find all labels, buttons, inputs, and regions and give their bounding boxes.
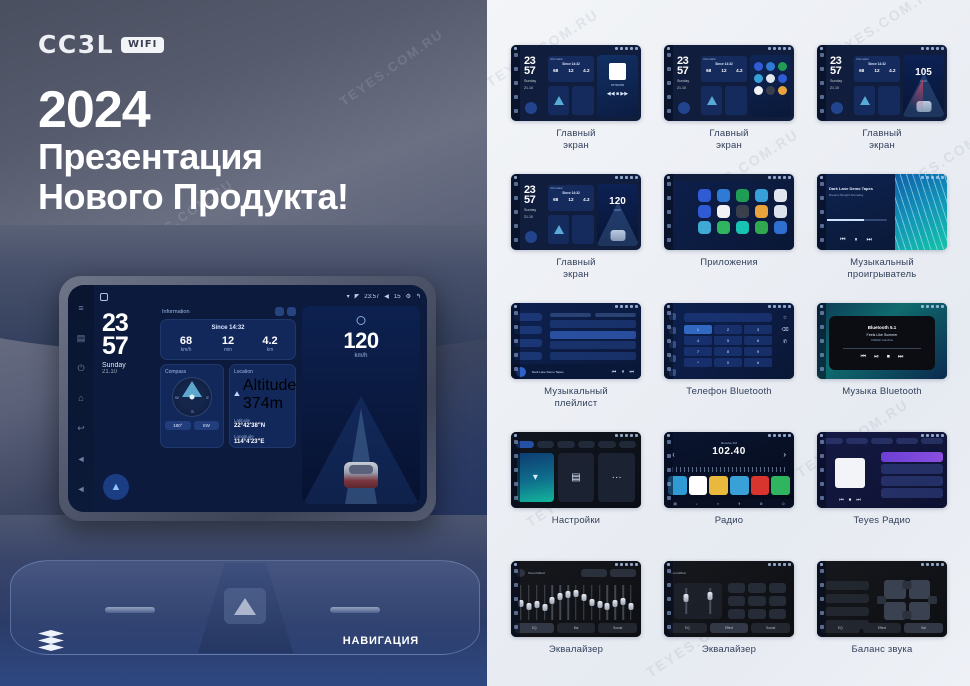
- thumb-music-player[interactable]: Dark Lane Demo Tapes Dreams Bought Somed…: [817, 174, 947, 294]
- next-icon[interactable]: ⏭: [867, 237, 872, 244]
- navigation-button[interactable]: [831, 102, 843, 114]
- thumb-bluetooth-phone[interactable]: 123456789*0# ☆ ⌫ ✆: [664, 303, 794, 423]
- app-item[interactable]: [716, 205, 731, 218]
- side-icon: [514, 311, 518, 315]
- thumbnail-image[interactable]: EQ Effect Bal: [817, 561, 947, 637]
- eq-band-slider[interactable]: [565, 585, 571, 620]
- eq-band-slider[interactable]: [589, 585, 595, 620]
- radio-preset[interactable]: [751, 476, 770, 495]
- latitude-value: 22°42'38"N: [234, 423, 291, 429]
- app-icon[interactable]: [755, 221, 768, 234]
- thumb-home-screen-media[interactable]: 23 57 Sunday 21.10 Information Since 14:…: [511, 45, 641, 165]
- thumb-status-bar: [511, 303, 641, 310]
- app-icon[interactable]: [755, 205, 768, 218]
- thumbnail-caption: Главный экран: [511, 128, 641, 151]
- thumbnail-image[interactable]: [664, 174, 794, 250]
- playlist-row[interactable]: [550, 341, 636, 349]
- dial-key[interactable]: 2: [714, 325, 742, 334]
- dial-key[interactable]: 1: [684, 325, 712, 334]
- music-player: Dark Lane Demo Tapes Dreams Bought Somed…: [817, 174, 947, 250]
- preset-button[interactable]: [769, 583, 786, 593]
- player-controls[interactable]: ⏮ ⏹ ⏭: [823, 497, 877, 503]
- stat-value: 12: [563, 68, 578, 73]
- trip-since: Since 14:32: [854, 62, 900, 66]
- app-item[interactable]: [697, 205, 712, 218]
- station-row[interactable]: [881, 464, 943, 474]
- thumb-teyes-radio[interactable]: ⏮ ⏹ ⏭: [817, 432, 947, 552]
- radio-toolbar[interactable]: ▤ ⌕ ≡ ⇞ ⚙ ⏻: [664, 499, 794, 508]
- dial-key[interactable]: 7: [684, 347, 712, 356]
- station-row[interactable]: [881, 476, 943, 486]
- settings-card-more[interactable]: ···: [598, 453, 635, 502]
- home-icon: [514, 563, 517, 566]
- navigation-button[interactable]: [678, 102, 690, 114]
- balance-right-button[interactable]: [928, 596, 937, 604]
- clock-minutes: 57: [830, 67, 842, 77]
- thumbnail-image[interactable]: ⏮ ⏹ ⏭: [817, 432, 947, 508]
- stat-value: 4.2: [579, 197, 594, 202]
- radio-preset[interactable]: [689, 476, 708, 495]
- station-row[interactable]: [881, 488, 943, 498]
- balance-left-button[interactable]: [877, 596, 886, 604]
- home-icon: [820, 434, 823, 437]
- app-item[interactable]: [716, 221, 731, 234]
- thumb-home-screen-road[interactable]: 23 57 Sunday 21.10 Information Since 14:…: [817, 45, 947, 165]
- presentation-page: TEYES.COM.RU TEYES.COM.RU TEYES.COM.RU T…: [0, 0, 970, 686]
- app-icon[interactable]: [778, 62, 787, 71]
- app-item[interactable]: [773, 205, 788, 218]
- thumbnail-image[interactable]: Sound Effect EQ Effect Sound: [664, 561, 794, 637]
- dial-key[interactable]: 5: [714, 336, 742, 345]
- compass-card: Compass W E S 180°: [160, 364, 224, 448]
- side-icon: [667, 569, 671, 573]
- back-icon: [788, 176, 791, 179]
- app-grid[interactable]: [697, 189, 788, 234]
- number-input[interactable]: [684, 313, 772, 322]
- equalizer-header: Sound Effect: [669, 569, 789, 577]
- equalizer-tabs[interactable]: EQ Bal Sound: [515, 623, 637, 633]
- preset-grid[interactable]: [728, 583, 786, 619]
- info-expand-icon[interactable]: [287, 307, 296, 316]
- side-icon: [514, 325, 518, 329]
- trip-since: Since 14:32: [548, 191, 594, 195]
- gear-icon: [936, 563, 939, 566]
- speed-unit: km/h: [903, 79, 944, 83]
- thumbnail-image[interactable]: 23 57 Sunday 21.10 Information Since 14:…: [664, 45, 794, 121]
- call-actions[interactable]: ☆ ⌫ ✆: [776, 303, 794, 379]
- playlist-tabs[interactable]: [550, 313, 636, 317]
- thumbnail-image[interactable]: 23 57 Sunday 21.10 Information Since 14:…: [511, 45, 641, 121]
- frequency-scale[interactable]: [672, 467, 786, 472]
- thumb-radio[interactable]: Receive FM 102.40 ‹ › ▤ ⌕ ≡ ⇞: [664, 432, 794, 552]
- app-item[interactable]: [697, 189, 712, 202]
- next-icon[interactable]: ⏭: [856, 497, 861, 503]
- trip-since: Since 14:32: [701, 62, 747, 66]
- tab-system[interactable]: [578, 441, 596, 448]
- app-item[interactable]: [697, 221, 712, 234]
- side-icon: [514, 339, 518, 343]
- preset-button[interactable]: [748, 583, 765, 593]
- reset-button[interactable]: [610, 569, 636, 577]
- thumbnail-image[interactable]: Sound Effect: [511, 561, 641, 637]
- clock-weekday: Sunday: [524, 79, 536, 83]
- tab-eq[interactable]: EQ: [668, 623, 707, 633]
- app-icon[interactable]: [736, 189, 749, 202]
- thumbnail-caption: Главный экран: [817, 128, 947, 151]
- eq-band-slider[interactable]: [612, 585, 618, 620]
- side-button-volume-down-icon[interactable]: ◄: [76, 453, 87, 464]
- playlist-row[interactable]: [550, 352, 636, 360]
- side-button-volume-up-icon[interactable]: ◄: [76, 483, 87, 494]
- volume-icon: [778, 176, 781, 179]
- now-playing-bar[interactable]: Dark Lane Demo Tapes ⏮ ⏸ ⏭: [511, 364, 641, 379]
- eq-band-slider[interactable]: [549, 585, 555, 620]
- radio-preset[interactable]: [730, 476, 749, 495]
- app-icon[interactable]: [774, 189, 787, 202]
- balance-pad[interactable]: [877, 581, 937, 619]
- app-icon[interactable]: [717, 189, 730, 202]
- side-button-app-icon[interactable]: ▤: [76, 333, 87, 344]
- side-icon: [667, 440, 671, 444]
- thumb-applications[interactable]: Приложения: [664, 174, 794, 294]
- eq-band-slider[interactable]: [581, 585, 587, 620]
- thumbnail-image[interactable]: Dark Lane Demo Tapes Dreams Bought Somed…: [817, 174, 947, 250]
- app-shortcuts-widget[interactable]: [750, 55, 791, 117]
- app-icon[interactable]: [766, 62, 775, 71]
- info-settings-icon[interactable]: [275, 307, 284, 316]
- thumb-home-screen-drive[interactable]: 23 57 Sunday 21.10 Information Since 14:…: [511, 174, 641, 294]
- driving-view-panel[interactable]: 120 km/h: [302, 306, 420, 504]
- thumb-music-playlist[interactable]: Dark Lane Demo Tapes ⏮ ⏸ ⏭: [511, 303, 641, 423]
- app-icon[interactable]: [754, 74, 763, 83]
- search-icon[interactable]: ⌕: [696, 502, 698, 506]
- home-screen-content: 23 57 Sunday 21.10 Information Since 14:…: [817, 45, 947, 121]
- driving-view-widget[interactable]: 105 km/h: [903, 55, 944, 117]
- side-button-home-icon[interactable]: ⌂: [76, 393, 87, 404]
- eq-icon[interactable]: ⇞: [738, 502, 741, 506]
- watermark: TEYES.COM.RU: [337, 26, 446, 109]
- gear-icon[interactable]: ⚙: [406, 293, 411, 300]
- dial-key[interactable]: 9: [744, 347, 772, 356]
- tab-effect[interactable]: Effect: [863, 623, 902, 633]
- clock-widget: 23 57 Sunday 21.10: [830, 57, 842, 90]
- preset-button[interactable]: [769, 609, 786, 619]
- speed-limit-icon: [357, 316, 366, 325]
- play-pause-icon[interactable]: ⏯: [874, 354, 879, 361]
- wifi-icon: [768, 176, 771, 179]
- next-station-icon[interactable]: ›: [783, 450, 786, 459]
- list-icon[interactable]: ≡: [717, 502, 719, 506]
- head-unit-screen[interactable]: ≡ ▤ ⏻ ⌂ ↩ ◄ ◄ ▾ ◤ 23: [68, 285, 427, 512]
- thumbnail-caption: Радио: [664, 515, 794, 527]
- side-button-menu-icon[interactable]: ≡: [76, 303, 87, 314]
- tab-sound[interactable]: Sound: [598, 623, 637, 633]
- keypad-grid[interactable]: 123456789*0#: [684, 325, 772, 367]
- thumb-sound-balance[interactable]: EQ Effect Bal: [817, 561, 947, 681]
- clock-icon: [926, 434, 929, 437]
- compass-direction: SW: [194, 421, 220, 430]
- preset-button[interactable]: [728, 596, 745, 606]
- volume-icon: [931, 434, 934, 437]
- level-sliders[interactable]: [674, 583, 722, 619]
- balance-presets[interactable]: [825, 581, 869, 619]
- level-slider[interactable]: [707, 588, 713, 614]
- previous-icon[interactable]: ⏮: [861, 354, 866, 361]
- volume-icon: [778, 434, 781, 437]
- clock-icon: [773, 176, 776, 179]
- thumb-equalizer-bands[interactable]: Sound Effect: [511, 561, 641, 681]
- thumb-side-buttons: [817, 432, 826, 508]
- app-item[interactable]: [754, 221, 769, 234]
- settings-card-wifi[interactable]: ▾: [517, 453, 554, 502]
- thumb-equalizer-presets[interactable]: Sound Effect EQ Effect Sound: [664, 561, 794, 681]
- stop-icon[interactable]: ⏹: [887, 354, 890, 361]
- compass-cone-icon: [554, 225, 564, 234]
- thumbnail-image[interactable]: 23 57 Sunday 21.10 Information Since 14:…: [511, 174, 641, 250]
- dial-key[interactable]: #: [744, 358, 772, 367]
- stat-unit: min: [207, 347, 249, 353]
- eq-band-slider[interactable]: [526, 585, 532, 620]
- thumb-bluetooth-music[interactable]: Bluetooth 5.1 Feels Like Summer Childish…: [817, 303, 947, 423]
- preset-row[interactable]: [668, 476, 790, 495]
- tab-effect[interactable]: Effect: [710, 623, 749, 633]
- playlist-row[interactable]: [550, 320, 636, 328]
- altitude-row: ⛰ Altitude 374m: [234, 377, 291, 413]
- thumbnail-image[interactable]: Dark Lane Demo Tapes ⏮ ⏸ ⏭: [511, 303, 641, 379]
- teyes-radio-screen: ⏮ ⏹ ⏭: [817, 432, 947, 508]
- app-icon[interactable]: [754, 86, 763, 95]
- pause-icon[interactable]: ⏸: [854, 237, 857, 244]
- star-icon[interactable]: ☆: [783, 315, 787, 321]
- radio-preset[interactable]: [771, 476, 790, 495]
- side-button-back-icon[interactable]: ↩: [76, 423, 87, 434]
- media-controls[interactable]: ◀◀ ■ ▶▶: [597, 91, 638, 97]
- equalizer-header[interactable]: Sound Effect: [516, 569, 636, 577]
- equalizer-tabs[interactable]: EQ Effect Sound: [668, 623, 790, 633]
- eq-band-slider[interactable]: [542, 585, 548, 620]
- app-icon[interactable]: [698, 205, 711, 218]
- app-item[interactable]: [773, 189, 788, 202]
- thumbnail-image[interactable]: Bluetooth 5.1 Feels Like Summer Childish…: [817, 303, 947, 379]
- stat-value: 4.2: [249, 335, 291, 347]
- eq-band-slider[interactable]: [628, 585, 634, 620]
- app-item[interactable]: [735, 189, 750, 202]
- app-icon[interactable]: [717, 205, 730, 218]
- preset-button[interactable]: [769, 596, 786, 606]
- compass-south: S: [191, 409, 194, 414]
- dial-key[interactable]: 8: [714, 347, 742, 356]
- track-artist: Childish Gambino: [871, 338, 893, 342]
- navigation-button[interactable]: [525, 231, 537, 243]
- tab-balance[interactable]: Bal: [557, 623, 596, 633]
- preset-button[interactable]: [748, 596, 765, 606]
- eq-band-slider[interactable]: [620, 585, 626, 620]
- app-icon[interactable]: [736, 221, 749, 234]
- back-icon: [635, 563, 638, 566]
- app-icon[interactable]: [774, 205, 787, 218]
- navigation-button[interactable]: ▲: [103, 474, 129, 500]
- thumbnail-image[interactable]: 23 57 Sunday 21.10 Information Since 14:…: [817, 45, 947, 121]
- app-icon[interactable]: [778, 86, 787, 95]
- tab-about[interactable]: [598, 441, 616, 448]
- player-controls[interactable]: ⏮ ⏸ ⏭: [817, 237, 895, 244]
- side-icon: [820, 339, 824, 343]
- app-icon[interactable]: [698, 221, 711, 234]
- backspace-icon[interactable]: ⌫: [781, 327, 788, 333]
- thumbnail-caption: Музыка Bluetooth: [817, 386, 947, 398]
- next-icon[interactable]: ⏭: [898, 354, 903, 361]
- preset-selector[interactable]: [581, 569, 607, 577]
- app-icon[interactable]: [766, 74, 775, 83]
- back-icon: [941, 305, 944, 308]
- tab-balance[interactable]: Bal: [904, 623, 943, 633]
- preset-row[interactable]: [825, 594, 869, 603]
- clock-icon: [926, 176, 929, 179]
- compass-card: [854, 86, 875, 115]
- dial-key[interactable]: 6: [744, 336, 772, 345]
- eq-band-slider[interactable]: [573, 585, 579, 620]
- app-icon[interactable]: [755, 189, 768, 202]
- media-widget[interactable]: 07:50 PM ◀◀ ■ ▶▶: [597, 55, 638, 117]
- tab-sound[interactable]: Sound: [751, 623, 790, 633]
- settings-card-car-manager[interactable]: ▤: [558, 453, 595, 502]
- preset-row[interactable]: [825, 581, 869, 590]
- thumbnail-caption: Главный экран: [664, 128, 794, 151]
- stop-icon[interactable]: ⏹: [849, 497, 852, 503]
- preset-button[interactable]: [748, 609, 765, 619]
- eq-band-slider[interactable]: [597, 585, 603, 620]
- power-icon[interactable]: ⏻: [782, 502, 785, 506]
- home-icon: [667, 563, 670, 566]
- side-icon: [667, 339, 671, 343]
- gear-icon: [936, 176, 939, 179]
- side-icon: [667, 353, 671, 357]
- dial-key[interactable]: 0: [714, 358, 742, 367]
- player-controls[interactable]: ⏮ ⏯ ⏹ ⏭: [861, 354, 904, 361]
- app-item[interactable]: [754, 205, 769, 218]
- wifi-icon: [768, 305, 771, 308]
- app-icon[interactable]: [778, 74, 787, 83]
- dial-key[interactable]: 3: [744, 325, 772, 334]
- dial-pad[interactable]: 123456789*0#: [680, 303, 776, 379]
- thumbnail-image[interactable]: Receive FM 102.40 ‹ › ▤ ⌕ ≡ ⇞: [664, 432, 794, 508]
- station-row[interactable]: [881, 452, 943, 462]
- information-title: Information: [162, 309, 190, 315]
- equalizer-tabs[interactable]: EQ Effect Bal: [821, 623, 943, 633]
- app-icon[interactable]: [754, 62, 763, 71]
- player-controls[interactable]: ⏮ ⏸ ⏭: [612, 369, 636, 375]
- eq-band-slider[interactable]: [534, 585, 540, 620]
- settings-tabs[interactable]: [516, 441, 636, 448]
- side-icon: [514, 569, 518, 573]
- dial-key[interactable]: 4: [684, 336, 712, 345]
- tab-sound[interactable]: [537, 441, 555, 448]
- equalizer-bands[interactable]: [518, 585, 634, 620]
- call-icon[interactable]: ✆: [783, 339, 787, 345]
- thumbnail-image[interactable]: ▾ ▤ ···: [511, 432, 641, 508]
- player-info: Dark Lane Demo Tapes Dreams Bought Somed…: [817, 174, 895, 250]
- equalizer-title: Sound Effect: [528, 571, 545, 575]
- side-icon: [820, 597, 824, 601]
- app-icon[interactable]: [774, 221, 787, 234]
- eq-band-slider[interactable]: [557, 585, 563, 620]
- settings-icon[interactable]: ⚙: [760, 502, 763, 506]
- preset-button[interactable]: [728, 609, 745, 619]
- preset-button[interactable]: [728, 583, 745, 593]
- balance-up-button[interactable]: [903, 581, 912, 589]
- thumb-status-bar: [664, 432, 794, 439]
- wifi-icon: [921, 563, 924, 566]
- thumb-settings[interactable]: ▾ ▤ ···: [511, 432, 641, 552]
- band-icon[interactable]: ▤: [673, 502, 676, 506]
- previous-icon[interactable]: ⏮: [840, 237, 845, 244]
- mountain-icon: ⛰: [234, 391, 240, 399]
- screen-side-buttons[interactable]: ≡ ▤ ⏻ ⌂ ↩ ◄ ◄: [68, 285, 94, 512]
- tab-eq[interactable]: EQ: [515, 623, 554, 633]
- balance-down-button[interactable]: [903, 611, 912, 619]
- app-icon[interactable]: [736, 205, 749, 218]
- level-slider[interactable]: [683, 588, 689, 614]
- back-icon: [788, 305, 791, 308]
- side-button-power-icon[interactable]: ⏻: [76, 363, 87, 374]
- app-item[interactable]: [735, 205, 750, 218]
- bt-card: Bluetooth 5.1 Feels Like Summer Childish…: [829, 316, 935, 370]
- thumb-home-screen-apps[interactable]: 23 57 Sunday 21.10 Information Since 14:…: [664, 45, 794, 165]
- volume-icon: [931, 176, 934, 179]
- driving-view-widget[interactable]: 120 km/h: [597, 184, 638, 246]
- tab-more[interactable]: [619, 441, 637, 448]
- navigation-button[interactable]: [525, 102, 537, 114]
- side-icon: [667, 496, 671, 500]
- app-item[interactable]: [716, 189, 731, 202]
- side-icon: [667, 81, 671, 85]
- thumb-status-bar: [817, 174, 947, 181]
- settings-cards[interactable]: ▾ ▤ ···: [517, 453, 635, 502]
- app-icon[interactable]: [698, 189, 711, 202]
- eq-band-slider[interactable]: [604, 585, 610, 620]
- preset-row[interactable]: [825, 607, 869, 616]
- clock-icon: [926, 47, 929, 50]
- side-icon: [820, 224, 824, 228]
- clock-date: 21.10: [677, 86, 689, 90]
- station-list[interactable]: [881, 452, 943, 502]
- tab-eq[interactable]: EQ: [821, 623, 860, 633]
- thumb-side-buttons: [511, 174, 520, 250]
- thumb-side-buttons: [511, 432, 520, 508]
- clock-date: 21.10: [524, 215, 536, 219]
- progress-bar[interactable]: [843, 348, 921, 349]
- dial-key[interactable]: *: [684, 358, 712, 367]
- app-item[interactable]: [773, 221, 788, 234]
- progress-bar[interactable]: [827, 219, 887, 221]
- playlist-row[interactable]: [550, 331, 636, 339]
- home-icon[interactable]: [100, 293, 108, 301]
- tab-display[interactable]: [557, 441, 575, 448]
- thumbnail-image[interactable]: 123456789*0# ☆ ⌫ ✆: [664, 303, 794, 379]
- app-item[interactable]: [754, 189, 769, 202]
- side-icon: [667, 196, 671, 200]
- previous-icon[interactable]: ⏮: [839, 497, 844, 503]
- app-icon[interactable]: [766, 86, 775, 95]
- app-icon[interactable]: [717, 221, 730, 234]
- thumbnail-caption: Teyes Радио: [817, 515, 947, 527]
- car-ahead-icon: [916, 101, 931, 112]
- side-icon: [820, 311, 824, 315]
- radio-preset[interactable]: [709, 476, 728, 495]
- back-arrow-icon[interactable]: ↰: [416, 293, 421, 300]
- app-item[interactable]: [735, 221, 750, 234]
- thumb-status-bar: [664, 174, 794, 181]
